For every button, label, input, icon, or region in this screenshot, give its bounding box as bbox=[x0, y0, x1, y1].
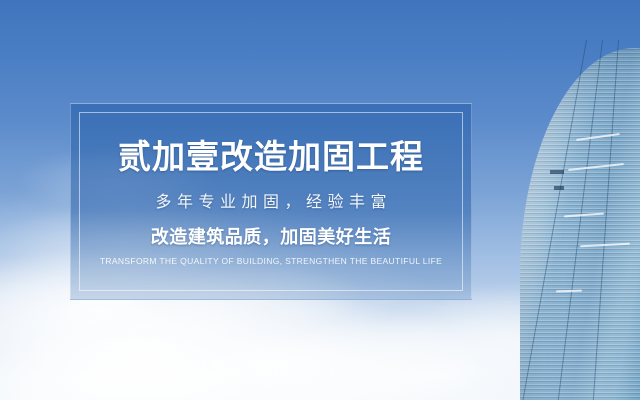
promo-banner: 贰加壹改造加固工程 多年专业加固，经验丰富 改造建筑品质，加固美好生活 TRAN… bbox=[0, 0, 640, 400]
subtitle: 多年专业加固，经验丰富 bbox=[150, 195, 392, 211]
tower-window-dark bbox=[554, 186, 564, 190]
skyscraper-image bbox=[490, 0, 640, 400]
headline: 贰加壹改造加固工程 bbox=[118, 140, 424, 173]
slogan: 改造建筑品质，加固美好生活 bbox=[151, 228, 392, 246]
english-tagline: TRANSFORM THE QUALITY OF BUILDING, STREN… bbox=[100, 257, 442, 266]
tower-window-dark bbox=[550, 170, 564, 174]
text-panel: 贰加壹改造加固工程 多年专业加固，经验丰富 改造建筑品质，加固美好生活 TRAN… bbox=[70, 103, 472, 300]
panel-content: 贰加壹改造加固工程 多年专业加固，经验丰富 改造建筑品质，加固美好生活 TRAN… bbox=[71, 104, 471, 299]
